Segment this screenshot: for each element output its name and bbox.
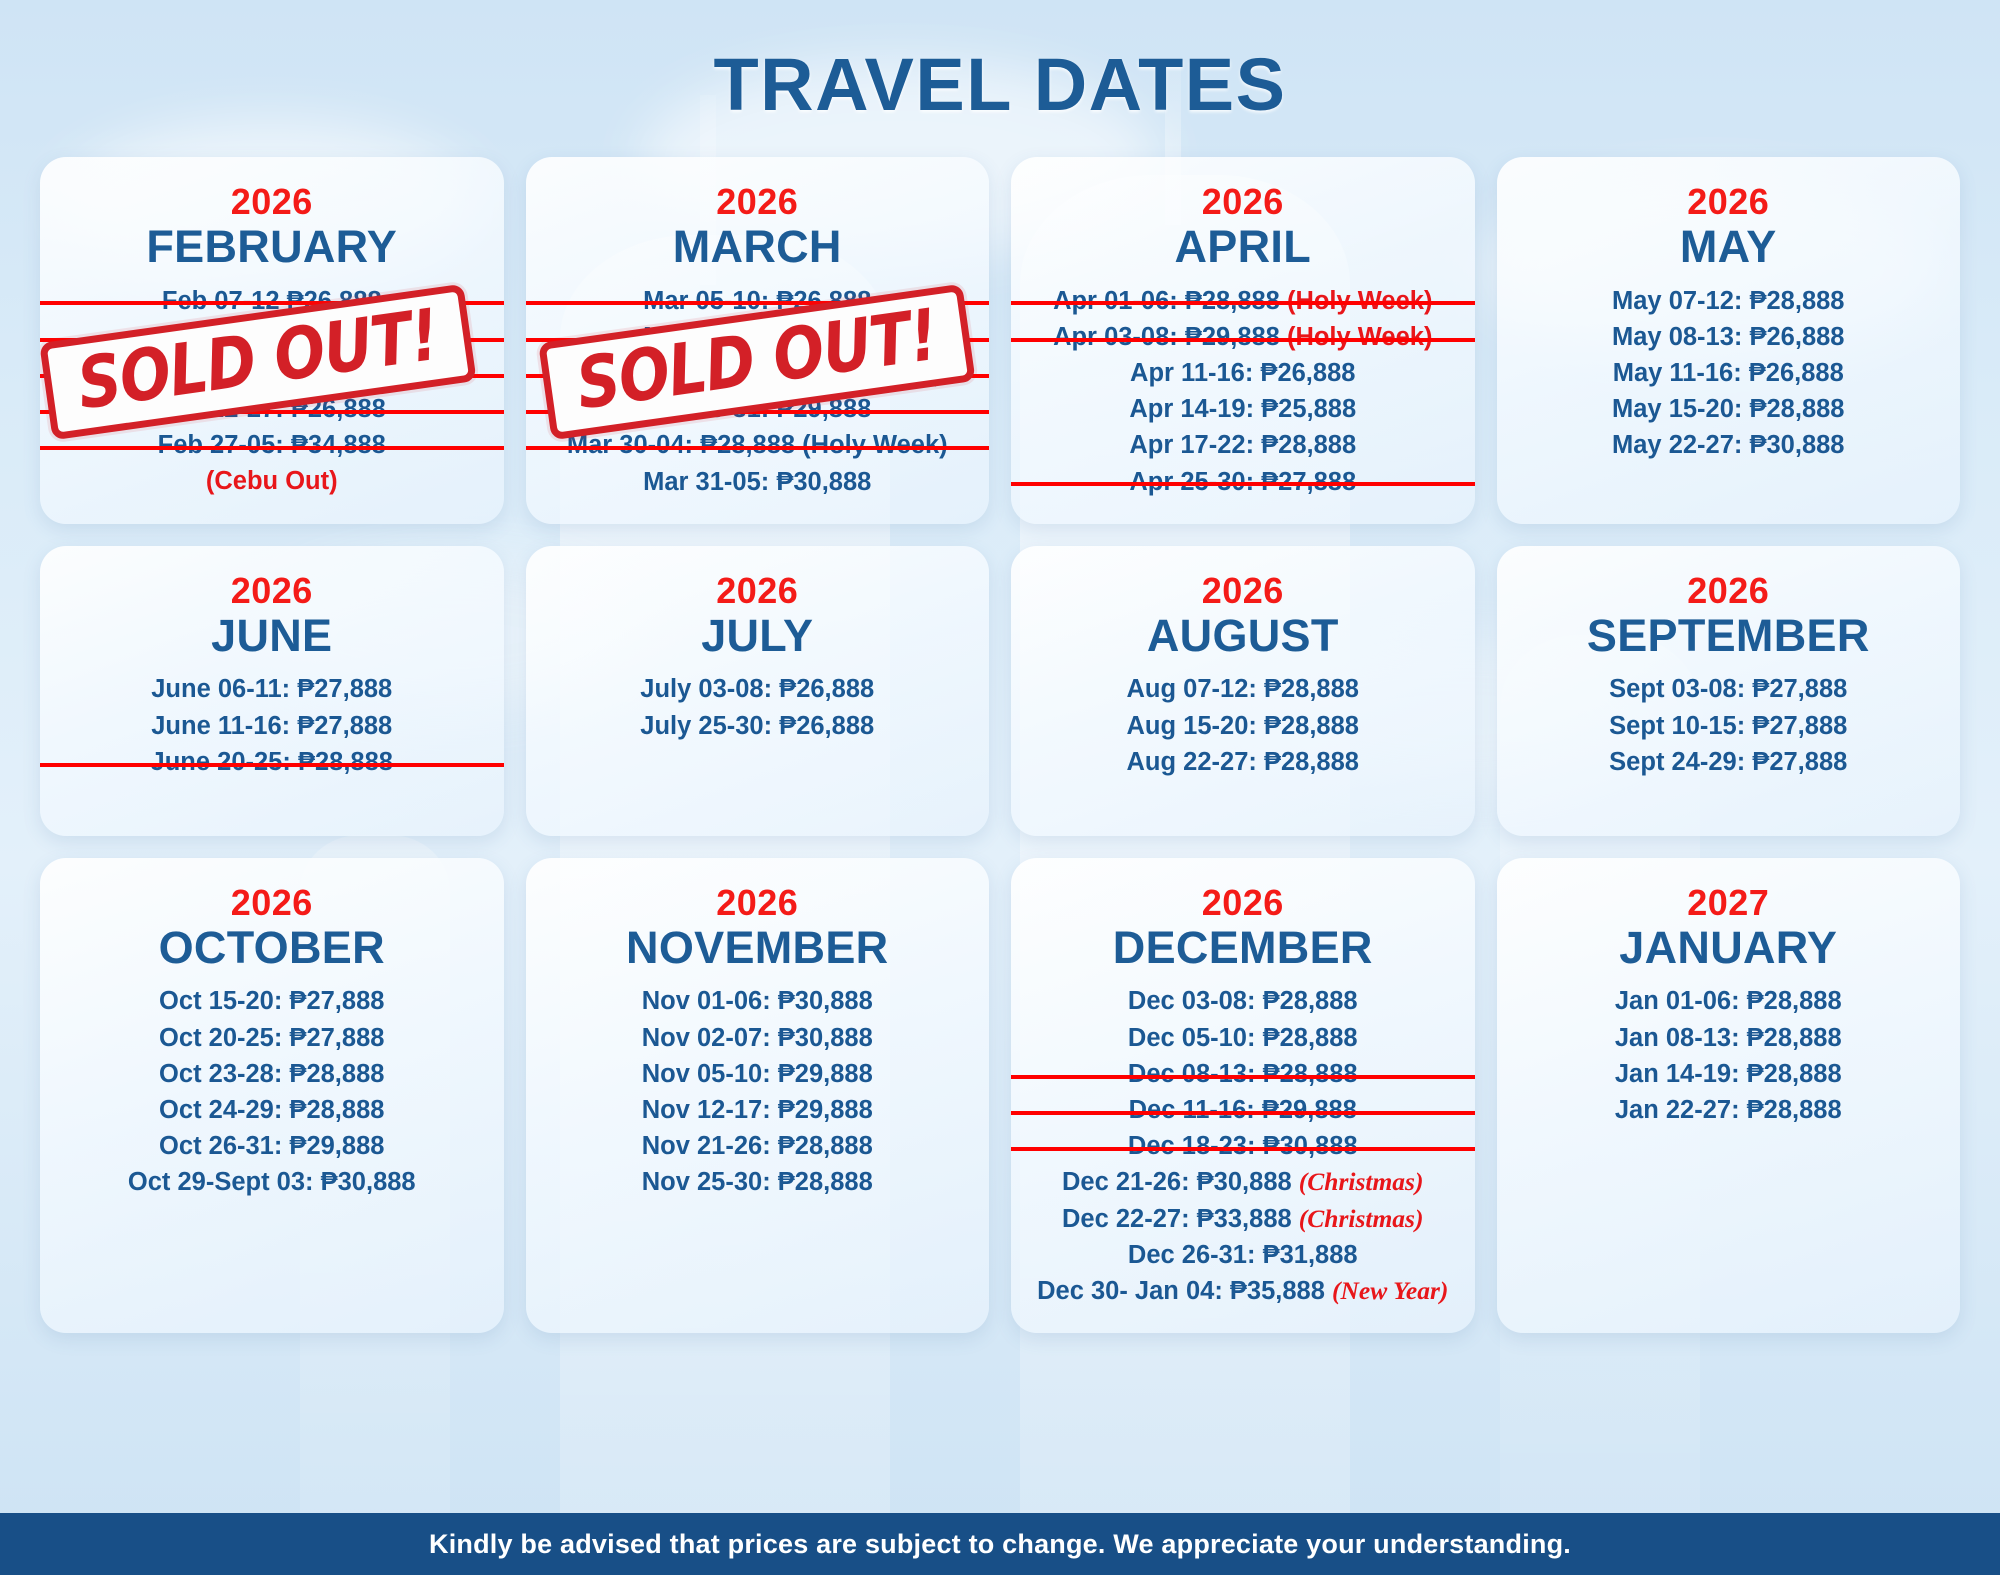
card-month-name: MAY bbox=[1507, 221, 1951, 273]
date-price-entry: Nov 01-06: ₱30,888 bbox=[536, 983, 980, 1019]
date-price-entry: Apr 17-22: ₱28,888 bbox=[1021, 427, 1465, 463]
entry-text: Mar 31-05: ₱30,888 bbox=[643, 468, 871, 496]
entry-text: Nov 01-06: ₱30,888 bbox=[642, 987, 873, 1015]
card-month-name: NOVEMBER bbox=[536, 922, 980, 974]
date-price-entry: June 06-11: ₱27,888 bbox=[50, 671, 494, 707]
date-price-entry: Jan 08-13: ₱28,888 bbox=[1507, 1020, 1951, 1056]
entry-text: Nov 25-30: ₱28,888 bbox=[642, 1168, 873, 1196]
date-price-entry: Dec 22-27: ₱33,888 (Christmas) bbox=[1021, 1201, 1465, 1237]
card-year: 2026 bbox=[1507, 572, 1951, 610]
date-price-entry: Oct 15-20: ₱27,888 bbox=[50, 983, 494, 1019]
entry-text: Oct 15-20: ₱27,888 bbox=[159, 987, 384, 1015]
entry-text: May 07-12: ₱28,888 bbox=[1612, 287, 1845, 315]
date-price-entry: Apr 01-06: ₱28,888 (Holy Week) bbox=[1021, 283, 1465, 319]
date-price-entry: Dec 11-16: ₱29,888 bbox=[1021, 1092, 1465, 1128]
month-card: 2026FEBRUARYFeb 07-12 ₱26,888Feb 14-20: … bbox=[40, 157, 504, 524]
date-price-list: Apr 01-06: ₱28,888 (Holy Week)Apr 03-08:… bbox=[1021, 283, 1465, 500]
date-price-entry: Oct 23-28: ₱28,888 bbox=[50, 1056, 494, 1092]
card-year: 2026 bbox=[50, 183, 494, 221]
entry-text: Jan 22-27: ₱28,888 bbox=[1615, 1096, 1842, 1124]
card-year: 2027 bbox=[1507, 884, 1951, 922]
date-price-entry: Apr 14-19: ₱25,888 bbox=[1021, 391, 1465, 427]
date-price-list: May 07-12: ₱28,888May 08-13: ₱26,888May … bbox=[1507, 283, 1951, 464]
date-price-entry: May 22-27: ₱30,888 bbox=[1507, 427, 1951, 463]
entry-text: Nov 05-10: ₱29,888 bbox=[642, 1060, 873, 1088]
date-price-entry: Oct 26-31: ₱29,888 bbox=[50, 1128, 494, 1164]
disclaimer-text: Kindly be advised that prices are subjec… bbox=[429, 1529, 1571, 1560]
date-price-entry: Dec 30- Jan 04: ₱35,888 (New Year) bbox=[1021, 1273, 1465, 1309]
entry-text: Apr 14-19: ₱25,888 bbox=[1129, 395, 1356, 423]
date-price-entry: Nov 21-26: ₱28,888 bbox=[536, 1128, 980, 1164]
date-price-entry: Apr 03-08: ₱29,888 (Holy Week) bbox=[1021, 319, 1465, 355]
entry-text: July 03-08: ₱26,888 bbox=[640, 675, 874, 703]
month-card: 2027JANUARYJan 01-06: ₱28,888Jan 08-13: … bbox=[1497, 858, 1961, 1333]
date-price-entry: Apr 25-30: ₱27,888 bbox=[1021, 464, 1465, 500]
card-year: 2026 bbox=[536, 183, 980, 221]
card-year: 2026 bbox=[536, 884, 980, 922]
month-card: 2026JULYJuly 03-08: ₱26,888July 25-30: ₱… bbox=[526, 546, 990, 836]
entry-text: Sept 03-08: ₱27,888 bbox=[1609, 675, 1847, 703]
entry-text: May 11-16: ₱26,888 bbox=[1613, 359, 1844, 387]
date-price-list: Sept 03-08: ₱27,888Sept 10-15: ₱27,888Se… bbox=[1507, 671, 1951, 780]
date-price-entry: Dec 08-13: ₱28,888 bbox=[1021, 1056, 1465, 1092]
entry-holiday-note: (New Year) bbox=[1332, 1276, 1448, 1305]
entry-text: Oct 24-29: ₱28,888 bbox=[159, 1096, 384, 1124]
entry-text: Apr 17-22: ₱28,888 bbox=[1129, 431, 1356, 459]
page-title: TRAVEL DATES bbox=[0, 0, 2000, 127]
card-month-name: APRIL bbox=[1021, 221, 1465, 273]
date-price-entry: Sept 24-29: ₱27,888 bbox=[1507, 744, 1951, 780]
date-price-entry: Dec 21-26: ₱30,888 (Christmas) bbox=[1021, 1164, 1465, 1200]
entry-text: June 20-25: ₱28,888 bbox=[151, 748, 393, 776]
entry-holiday-note: (Christmas) bbox=[1299, 1204, 1424, 1233]
date-price-entry: Dec 03-08: ₱28,888 bbox=[1021, 983, 1465, 1019]
card-month-name: FEBRUARY bbox=[50, 221, 494, 273]
month-card: 2026APRILApr 01-06: ₱28,888 (Holy Week)A… bbox=[1011, 157, 1475, 524]
entry-text: May 15-20: ₱28,888 bbox=[1612, 395, 1845, 423]
date-price-entry: Aug 22-27: ₱28,888 bbox=[1021, 744, 1465, 780]
card-month-name: MARCH bbox=[536, 221, 980, 273]
date-price-entry: May 15-20: ₱28,888 bbox=[1507, 391, 1951, 427]
date-price-entry: July 25-30: ₱26,888 bbox=[536, 708, 980, 744]
month-card: 2026MAYMay 07-12: ₱28,888May 08-13: ₱26,… bbox=[1497, 157, 1961, 524]
month-card: 2026AUGUSTAug 07-12: ₱28,888Aug 15-20: ₱… bbox=[1011, 546, 1475, 836]
entry-text: Dec 08-13: ₱28,888 bbox=[1128, 1060, 1358, 1088]
entry-text: June 06-11: ₱27,888 bbox=[151, 675, 392, 703]
entry-text: Jan 14-19: ₱28,888 bbox=[1615, 1060, 1842, 1088]
card-year: 2026 bbox=[1021, 183, 1465, 221]
entry-text: Mar 30-04: ₱28,888 (Holy Week) bbox=[567, 431, 948, 459]
date-price-entry: Oct 24-29: ₱28,888 bbox=[50, 1092, 494, 1128]
entry-text: Nov 21-26: ₱28,888 bbox=[642, 1132, 873, 1160]
date-price-entry: Jan 01-06: ₱28,888 bbox=[1507, 983, 1951, 1019]
month-card: 2026JUNEJune 06-11: ₱27,888June 11-16: ₱… bbox=[40, 546, 504, 836]
date-price-entry: Mar 31-05: ₱30,888 bbox=[536, 464, 980, 500]
card-year: 2026 bbox=[1507, 183, 1951, 221]
card-month-name: JULY bbox=[536, 610, 980, 662]
entry-text: Oct 29-Sept 03: ₱30,888 bbox=[128, 1168, 416, 1196]
entry-text: Aug 15-20: ₱28,888 bbox=[1127, 712, 1359, 740]
entry-text: Jan 01-06: ₱28,888 bbox=[1615, 987, 1842, 1015]
entry-text: Apr 03-08: ₱29,888 bbox=[1053, 323, 1287, 351]
entry-text: Nov 02-07: ₱30,888 bbox=[642, 1024, 873, 1052]
entry-text: Aug 22-27: ₱28,888 bbox=[1127, 748, 1359, 776]
date-price-entry: Aug 07-12: ₱28,888 bbox=[1021, 671, 1465, 707]
month-card: 2026MARCHMar 05-10: ₱26,888Mar 12-17: ₱2… bbox=[526, 157, 990, 524]
date-price-entry: Dec 26-31: ₱31,888 bbox=[1021, 1237, 1465, 1273]
disclaimer-footer: Kindly be advised that prices are subjec… bbox=[0, 1513, 2000, 1575]
entry-text: Dec 26-31: ₱31,888 bbox=[1128, 1241, 1358, 1269]
entry-text: Dec 22-27: ₱33,888 bbox=[1062, 1205, 1299, 1233]
card-year: 2026 bbox=[50, 572, 494, 610]
entry-text: Apr 11-16: ₱26,888 bbox=[1130, 359, 1355, 387]
entry-text: Dec 05-10: ₱28,888 bbox=[1128, 1024, 1358, 1052]
entry-text: Nov 12-17: ₱29,888 bbox=[642, 1096, 873, 1124]
card-sub-note: (Cebu Out) bbox=[50, 464, 494, 500]
entry-text: Dec 11-16: ₱29,888 bbox=[1129, 1096, 1357, 1124]
date-price-list: Aug 07-12: ₱28,888Aug 15-20: ₱28,888Aug … bbox=[1021, 671, 1465, 780]
entry-note: (Holy Week) bbox=[1287, 287, 1432, 315]
card-year: 2026 bbox=[50, 884, 494, 922]
date-price-list: July 03-08: ₱26,888July 25-30: ₱26,888 bbox=[536, 671, 980, 743]
entry-holiday-note: (Christmas) bbox=[1299, 1167, 1424, 1196]
month-card: 2026SEPTEMBERSept 03-08: ₱27,888Sept 10-… bbox=[1497, 546, 1961, 836]
date-price-list: June 06-11: ₱27,888June 11-16: ₱27,888Ju… bbox=[50, 671, 494, 780]
entry-text: Dec 18-23: ₱30,888 bbox=[1128, 1132, 1358, 1160]
card-year: 2026 bbox=[1021, 884, 1465, 922]
month-card: 2026OCTOBEROct 15-20: ₱27,888Oct 20-25: … bbox=[40, 858, 504, 1333]
date-price-list: Jan 01-06: ₱28,888Jan 08-13: ₱28,888Jan … bbox=[1507, 983, 1951, 1128]
date-price-list: Dec 03-08: ₱28,888Dec 05-10: ₱28,888Dec … bbox=[1021, 983, 1465, 1309]
card-month-name: AUGUST bbox=[1021, 610, 1465, 662]
month-card: 2026DECEMBERDec 03-08: ₱28,888Dec 05-10:… bbox=[1011, 858, 1475, 1333]
date-price-entry: Feb 27-05: ₱34,888 bbox=[50, 427, 494, 463]
card-month-name: OCTOBER bbox=[50, 922, 494, 974]
date-price-entry: Aug 15-20: ₱28,888 bbox=[1021, 708, 1465, 744]
month-card-grid: 2026FEBRUARYFeb 07-12 ₱26,888Feb 14-20: … bbox=[0, 127, 2000, 1333]
entry-text: Aug 07-12: ₱28,888 bbox=[1127, 675, 1359, 703]
entry-text: Oct 26-31: ₱29,888 bbox=[159, 1132, 384, 1160]
date-price-list: Nov 01-06: ₱30,888Nov 02-07: ₱30,888Nov … bbox=[536, 983, 980, 1200]
date-price-entry: May 08-13: ₱26,888 bbox=[1507, 319, 1951, 355]
entry-text: Apr 01-06: ₱28,888 bbox=[1053, 287, 1287, 315]
entry-note: (Holy Week) bbox=[1287, 323, 1432, 351]
card-year: 2026 bbox=[536, 572, 980, 610]
card-month-name: DECEMBER bbox=[1021, 922, 1465, 974]
entry-text: May 22-27: ₱30,888 bbox=[1612, 431, 1845, 459]
date-price-entry: Apr 11-16: ₱26,888 bbox=[1021, 355, 1465, 391]
entry-text: Oct 23-28: ₱28,888 bbox=[159, 1060, 384, 1088]
entry-text: Sept 10-15: ₱27,888 bbox=[1609, 712, 1847, 740]
entry-text: May 08-13: ₱26,888 bbox=[1612, 323, 1845, 351]
date-price-entry: June 11-16: ₱27,888 bbox=[50, 708, 494, 744]
date-price-entry: Jan 22-27: ₱28,888 bbox=[1507, 1092, 1951, 1128]
date-price-entry: Sept 03-08: ₱27,888 bbox=[1507, 671, 1951, 707]
entry-text: Feb 27-05: ₱34,888 bbox=[158, 431, 386, 459]
date-price-entry: Nov 02-07: ₱30,888 bbox=[536, 1020, 980, 1056]
date-price-entry: Dec 05-10: ₱28,888 bbox=[1021, 1020, 1465, 1056]
card-year: 2026 bbox=[1021, 572, 1465, 610]
date-price-entry: May 11-16: ₱26,888 bbox=[1507, 355, 1951, 391]
date-price-entry: Nov 05-10: ₱29,888 bbox=[536, 1056, 980, 1092]
date-price-entry: Nov 12-17: ₱29,888 bbox=[536, 1092, 980, 1128]
card-month-name: JANUARY bbox=[1507, 922, 1951, 974]
date-price-entry: Oct 29-Sept 03: ₱30,888 bbox=[50, 1164, 494, 1200]
entry-text: July 25-30: ₱26,888 bbox=[640, 712, 874, 740]
date-price-entry: Dec 18-23: ₱30,888 bbox=[1021, 1128, 1465, 1164]
date-price-entry: Sept 10-15: ₱27,888 bbox=[1507, 708, 1951, 744]
entry-text: Dec 03-08: ₱28,888 bbox=[1128, 987, 1358, 1015]
date-price-list: Oct 15-20: ₱27,888Oct 20-25: ₱27,888Oct … bbox=[50, 983, 494, 1200]
date-price-entry: Jan 14-19: ₱28,888 bbox=[1507, 1056, 1951, 1092]
entry-text: Sept 24-29: ₱27,888 bbox=[1609, 748, 1847, 776]
date-price-entry: Oct 20-25: ₱27,888 bbox=[50, 1020, 494, 1056]
entry-text: Dec 21-26: ₱30,888 bbox=[1062, 1168, 1299, 1196]
entry-text: Jan 08-13: ₱28,888 bbox=[1615, 1024, 1842, 1052]
date-price-entry: May 07-12: ₱28,888 bbox=[1507, 283, 1951, 319]
date-price-entry: July 03-08: ₱26,888 bbox=[536, 671, 980, 707]
entry-text: Oct 20-25: ₱27,888 bbox=[159, 1024, 384, 1052]
month-card: 2026NOVEMBERNov 01-06: ₱30,888Nov 02-07:… bbox=[526, 858, 990, 1333]
entry-text: Apr 25-30: ₱27,888 bbox=[1129, 468, 1356, 496]
card-month-name: SEPTEMBER bbox=[1507, 610, 1951, 662]
card-month-name: JUNE bbox=[50, 610, 494, 662]
date-price-entry: June 20-25: ₱28,888 bbox=[50, 744, 494, 780]
entry-text: Dec 30- Jan 04: ₱35,888 bbox=[1037, 1277, 1332, 1305]
entry-text: June 11-16: ₱27,888 bbox=[151, 712, 392, 740]
date-price-entry: Nov 25-30: ₱28,888 bbox=[536, 1164, 980, 1200]
travel-dates-poster: TRAVEL DATES 2026FEBRUARYFeb 07-12 ₱26,8… bbox=[0, 0, 2000, 1575]
